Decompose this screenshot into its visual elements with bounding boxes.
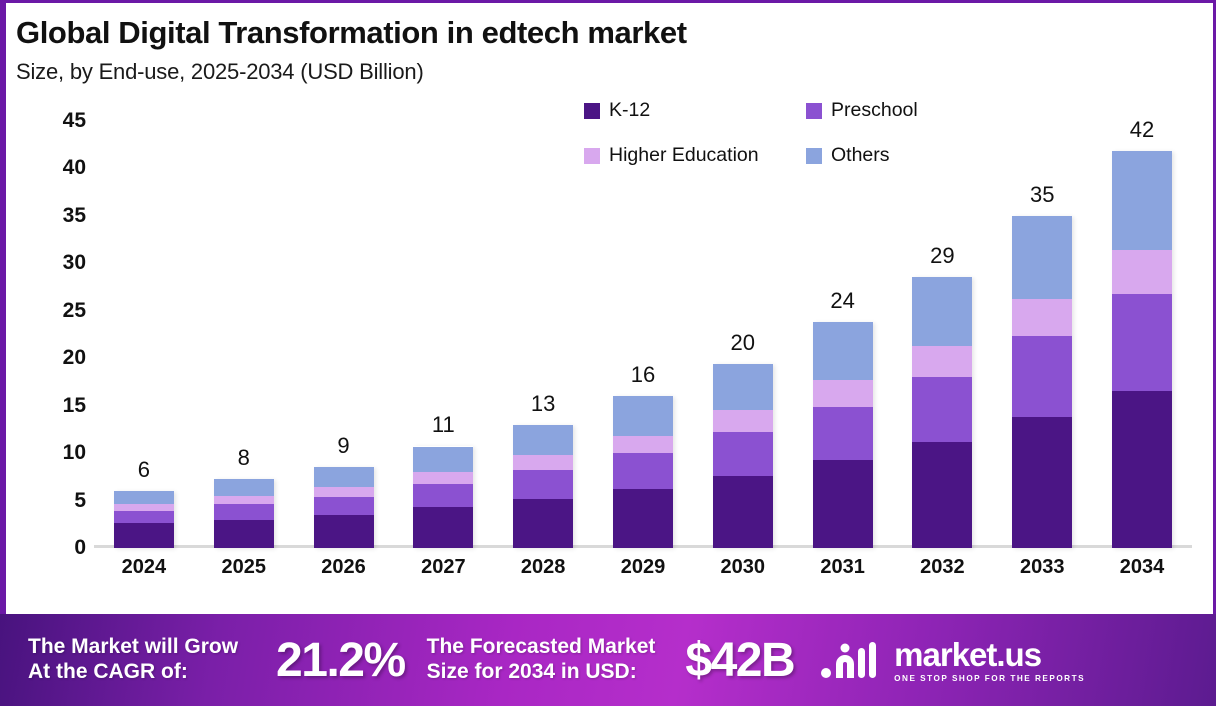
bar-column[interactable]: 20 bbox=[693, 121, 792, 548]
bar-stack[interactable] bbox=[713, 364, 773, 548]
logo-mark-icon bbox=[820, 638, 882, 682]
bar-segment[interactable] bbox=[413, 447, 473, 473]
bar-segment[interactable] bbox=[413, 484, 473, 507]
x-axis-label: 2033 bbox=[993, 556, 1092, 588]
chart-header: Global Digital Transformation in edtech … bbox=[16, 15, 687, 85]
bar-series-group: 6891113162024293542 bbox=[94, 121, 1192, 548]
bar-total-label: 35 bbox=[993, 182, 1092, 208]
bar-segment[interactable] bbox=[1012, 417, 1072, 548]
logo-tagline: ONE STOP SHOP FOR THE REPORTS bbox=[894, 674, 1085, 683]
bar-segment[interactable] bbox=[713, 476, 773, 548]
bar-segment[interactable] bbox=[114, 504, 174, 511]
bar-column[interactable]: 6 bbox=[94, 121, 193, 548]
bar-segment[interactable] bbox=[314, 515, 374, 548]
bar-segment[interactable] bbox=[214, 496, 274, 505]
bar-column[interactable]: 24 bbox=[793, 121, 892, 548]
bar-segment[interactable] bbox=[513, 455, 573, 470]
bar-segment[interactable] bbox=[912, 377, 972, 442]
bar-segment[interactable] bbox=[114, 523, 174, 548]
bar-segment[interactable] bbox=[114, 491, 174, 504]
bar-segment[interactable] bbox=[1012, 216, 1072, 300]
y-axis-tick: 25 bbox=[63, 299, 86, 323]
bar-stack[interactable] bbox=[214, 479, 274, 548]
bar-stack[interactable] bbox=[1112, 151, 1172, 548]
bar-segment[interactable] bbox=[713, 364, 773, 410]
bar-column[interactable]: 35 bbox=[993, 121, 1092, 548]
bar-total-label: 13 bbox=[494, 391, 593, 417]
bar-stack[interactable] bbox=[613, 396, 673, 548]
bar-segment[interactable] bbox=[214, 520, 274, 548]
bar-total-label: 29 bbox=[893, 243, 992, 269]
x-axis-label: 2025 bbox=[194, 556, 293, 588]
bar-total-label: 24 bbox=[793, 288, 892, 314]
plot-area: 051015202530354045 6891113162024293542 bbox=[94, 121, 1192, 548]
x-axis-label: 2034 bbox=[1093, 556, 1192, 588]
forecast-caption-line1: The Forecasted Market bbox=[427, 635, 656, 660]
bar-segment[interactable] bbox=[1112, 250, 1172, 294]
bar-segment[interactable] bbox=[613, 453, 673, 489]
bar-segment[interactable] bbox=[912, 277, 972, 346]
bar-segment[interactable] bbox=[813, 460, 873, 548]
y-axis: 051015202530354045 bbox=[28, 121, 86, 548]
bar-segment[interactable] bbox=[314, 467, 374, 487]
bar-column[interactable]: 13 bbox=[494, 121, 593, 548]
x-axis-label: 2031 bbox=[793, 556, 892, 588]
bar-segment[interactable] bbox=[513, 499, 573, 548]
y-axis-tick: 0 bbox=[74, 536, 86, 560]
legend-swatch-icon bbox=[806, 103, 822, 119]
bar-segment[interactable] bbox=[1012, 336, 1072, 417]
bar-total-label: 16 bbox=[593, 362, 692, 388]
bar-segment[interactable] bbox=[314, 497, 374, 515]
bar-segment[interactable] bbox=[813, 380, 873, 407]
bar-column[interactable]: 29 bbox=[893, 121, 992, 548]
bar-stack[interactable] bbox=[912, 277, 972, 548]
bar-stack[interactable] bbox=[114, 491, 174, 548]
forecast-caption: The Forecasted Market Size for 2034 in U… bbox=[427, 635, 656, 685]
bar-segment[interactable] bbox=[1112, 391, 1172, 549]
bar-total-label: 6 bbox=[94, 457, 193, 483]
forecast-value: $42B bbox=[685, 633, 794, 688]
legend-label: K-12 bbox=[609, 99, 650, 122]
legend-item-k12: K-12 bbox=[584, 99, 806, 122]
cagr-caption-line2: At the CAGR of: bbox=[28, 660, 238, 685]
y-axis-tick: 30 bbox=[63, 251, 86, 275]
x-axis-label: 2029 bbox=[593, 556, 692, 588]
bar-segment[interactable] bbox=[912, 442, 972, 548]
logo-name: market.us bbox=[894, 638, 1085, 671]
bar-column[interactable]: 11 bbox=[394, 121, 493, 548]
footer-banner: The Market will Grow At the CAGR of: 21.… bbox=[0, 614, 1216, 706]
bar-segment[interactable] bbox=[613, 436, 673, 453]
bar-stack[interactable] bbox=[413, 446, 473, 548]
y-axis-tick: 20 bbox=[63, 346, 86, 370]
x-axis-label: 2028 bbox=[494, 556, 593, 588]
bar-segment[interactable] bbox=[912, 346, 972, 377]
legend-label: Preschool bbox=[831, 99, 918, 122]
bar-segment[interactable] bbox=[413, 507, 473, 548]
bar-column[interactable]: 9 bbox=[294, 121, 393, 548]
y-axis-tick: 40 bbox=[63, 156, 86, 180]
logo-text-block: market.us ONE STOP SHOP FOR THE REPORTS bbox=[894, 638, 1085, 683]
x-axis: 2024202520262027202820292030203120322033… bbox=[94, 556, 1192, 588]
cagr-value: 21.2% bbox=[276, 633, 405, 688]
bar-column[interactable]: 16 bbox=[593, 121, 692, 548]
bar-segment[interactable] bbox=[214, 479, 274, 496]
page-title: Global Digital Transformation in edtech … bbox=[16, 15, 687, 51]
bar-segment[interactable] bbox=[1112, 294, 1172, 391]
bar-stack[interactable] bbox=[813, 322, 873, 548]
bar-segment[interactable] bbox=[713, 410, 773, 432]
cagr-caption-line1: The Market will Grow bbox=[28, 635, 238, 660]
market-us-logo[interactable]: market.us ONE STOP SHOP FOR THE REPORTS bbox=[820, 638, 1085, 683]
bar-total-label: 8 bbox=[194, 445, 293, 471]
y-axis-tick: 5 bbox=[74, 489, 86, 513]
y-axis-tick: 10 bbox=[63, 441, 86, 465]
x-axis-label: 2027 bbox=[394, 556, 493, 588]
x-axis-label: 2032 bbox=[893, 556, 992, 588]
bar-segment[interactable] bbox=[214, 504, 274, 519]
y-axis-tick: 15 bbox=[63, 394, 86, 418]
bar-total-label: 11 bbox=[394, 412, 493, 438]
cagr-caption: The Market will Grow At the CAGR of: bbox=[28, 635, 238, 685]
bar-segment[interactable] bbox=[713, 432, 773, 476]
bar-segment[interactable] bbox=[813, 407, 873, 460]
bar-segment[interactable] bbox=[613, 489, 673, 548]
bar-stack[interactable] bbox=[314, 467, 374, 548]
y-axis-tick: 35 bbox=[63, 204, 86, 228]
bar-segment[interactable] bbox=[813, 322, 873, 380]
chart-page: Global Digital Transformation in edtech … bbox=[0, 0, 1216, 706]
bar-segment[interactable] bbox=[613, 396, 673, 436]
bar-total-label: 20 bbox=[693, 330, 792, 356]
bar-segment[interactable] bbox=[1112, 151, 1172, 250]
bar-segment[interactable] bbox=[513, 425, 573, 455]
bar-segment[interactable] bbox=[114, 511, 174, 523]
x-axis-label: 2024 bbox=[94, 556, 193, 588]
chart-subtitle: Size, by End-use, 2025-2034 (USD Billion… bbox=[16, 59, 687, 85]
bar-stack[interactable] bbox=[513, 425, 573, 548]
x-axis-label: 2026 bbox=[294, 556, 393, 588]
legend-swatch-icon bbox=[584, 103, 600, 119]
bar-segment[interactable] bbox=[314, 487, 374, 496]
bar-column[interactable]: 8 bbox=[194, 121, 293, 548]
forecast-caption-line2: Size for 2034 in USD: bbox=[427, 660, 656, 685]
bar-segment[interactable] bbox=[1012, 299, 1072, 336]
legend-item-preschool: Preschool bbox=[806, 99, 1004, 122]
bar-total-label: 42 bbox=[1093, 117, 1192, 143]
x-axis-label: 2030 bbox=[693, 556, 792, 588]
bar-segment[interactable] bbox=[513, 470, 573, 498]
bar-total-label: 9 bbox=[294, 433, 393, 459]
bar-stack[interactable] bbox=[1012, 216, 1072, 548]
bar-segment[interactable] bbox=[413, 472, 473, 484]
bar-column[interactable]: 42 bbox=[1093, 121, 1192, 548]
y-axis-tick: 45 bbox=[63, 109, 86, 133]
